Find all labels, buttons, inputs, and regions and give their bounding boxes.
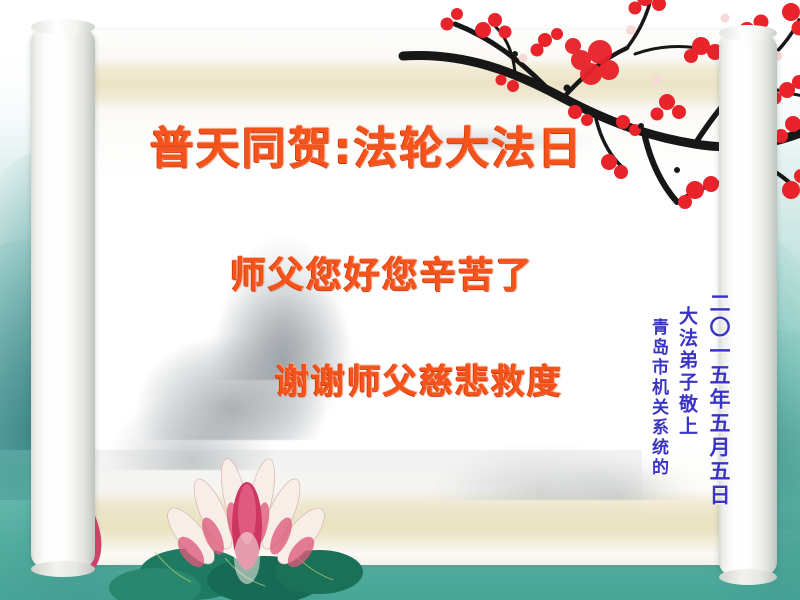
signature-block: 二〇一五年五月五日 大法弟子敬上 青岛市机关系统的 — [646, 292, 734, 542]
signature-sender: 大法弟子敬上 — [674, 292, 701, 542]
roller-cap-bottom-left — [31, 561, 95, 577]
roller-cap-bottom-right — [719, 569, 777, 585]
roller-cap-top-right — [719, 25, 777, 41]
greeting-card-slide: 普天同贺:法轮大法日 师父您好您辛苦了 谢谢师父慈悲救度 二〇一五年五月五日 大… — [0, 0, 800, 600]
roller-cap-top-left — [31, 19, 95, 35]
ink-water-surface — [82, 450, 642, 520]
signature-date: 二〇一五年五月五日 — [704, 292, 734, 542]
greeting-title-line-2: 师父您好您辛苦了 — [230, 246, 534, 298]
scroll-roller-left — [31, 24, 95, 572]
greeting-title-line-1: 普天同贺:法轮大法日 — [150, 112, 584, 176]
greeting-title-line-3: 谢谢师父慈悲救度 — [275, 354, 563, 403]
signature-organization: 青岛市机关系统的 — [646, 292, 671, 542]
